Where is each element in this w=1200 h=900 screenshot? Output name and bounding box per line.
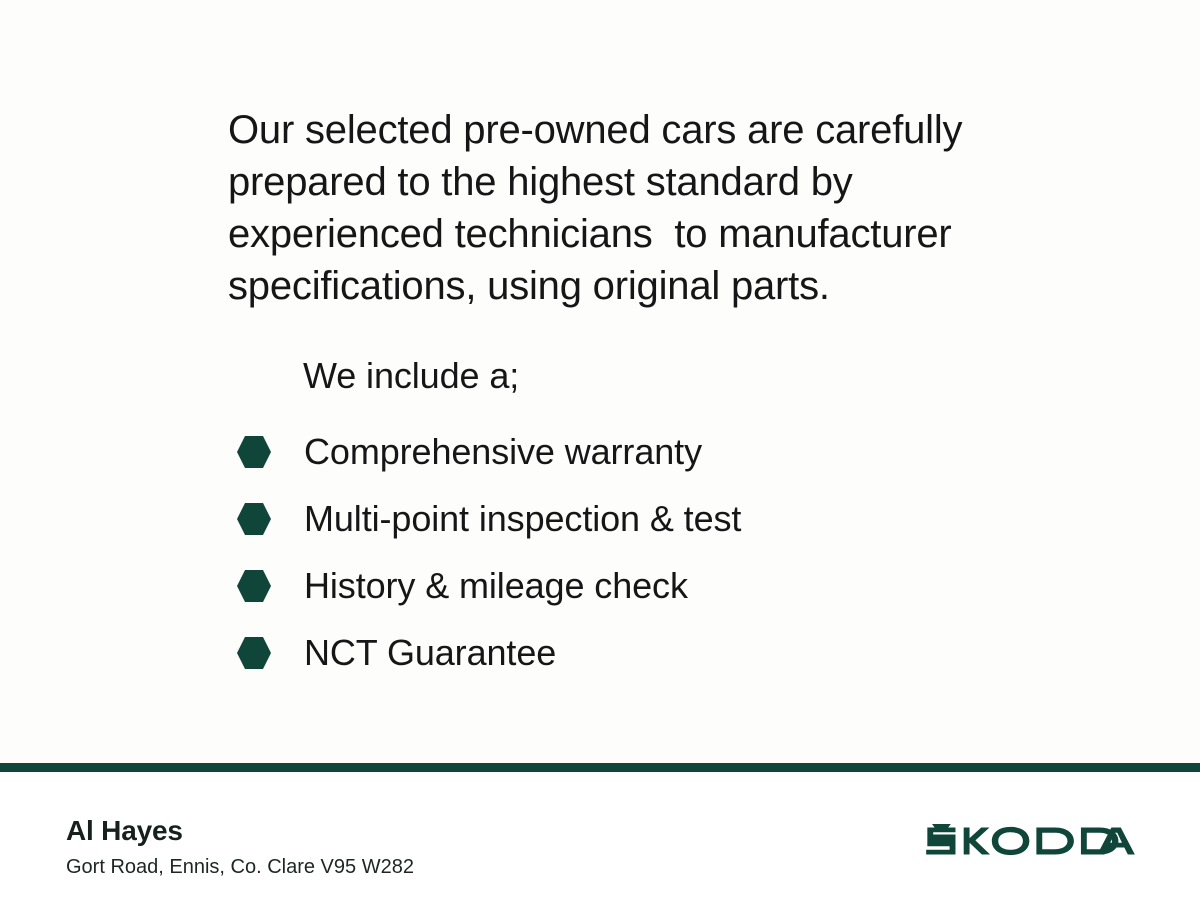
list-item-label: Multi-point inspection & test	[304, 497, 741, 541]
list-item: Multi-point inspection & test	[236, 485, 741, 552]
slide-footer: Al Hayes Gort Road, Ennis, Co. Clare V95…	[0, 772, 1200, 900]
promo-slide: Our selected pre-owned cars are carefull…	[0, 0, 1200, 900]
slide-content: Our selected pre-owned cars are carefull…	[0, 0, 1200, 763]
list-item: Comprehensive warranty	[236, 418, 741, 485]
list-item: NCT Guarantee	[236, 619, 741, 686]
hexagon-bullet-icon	[236, 502, 272, 536]
list-item-label: NCT Guarantee	[304, 631, 556, 675]
list-item-label: Comprehensive warranty	[304, 430, 702, 474]
list-item: History & mileage check	[236, 552, 741, 619]
benefits-list: Comprehensive warranty Multi-point inspe…	[236, 418, 741, 686]
skoda-wordmark-logo	[925, 824, 1136, 858]
dealer-name: Al Hayes	[66, 814, 414, 848]
include-label: We include a;	[303, 353, 519, 399]
footer-divider	[0, 763, 1200, 772]
hexagon-bullet-icon	[236, 636, 272, 670]
hexagon-bullet-icon	[236, 435, 272, 469]
dealer-info: Al Hayes Gort Road, Ennis, Co. Clare V95…	[66, 814, 414, 880]
headline-text: Our selected pre-owned cars are carefull…	[228, 104, 1018, 312]
list-item-label: History & mileage check	[304, 564, 688, 608]
hexagon-bullet-icon	[236, 569, 272, 603]
dealer-address: Gort Road, Ennis, Co. Clare V95 W282	[66, 855, 414, 880]
